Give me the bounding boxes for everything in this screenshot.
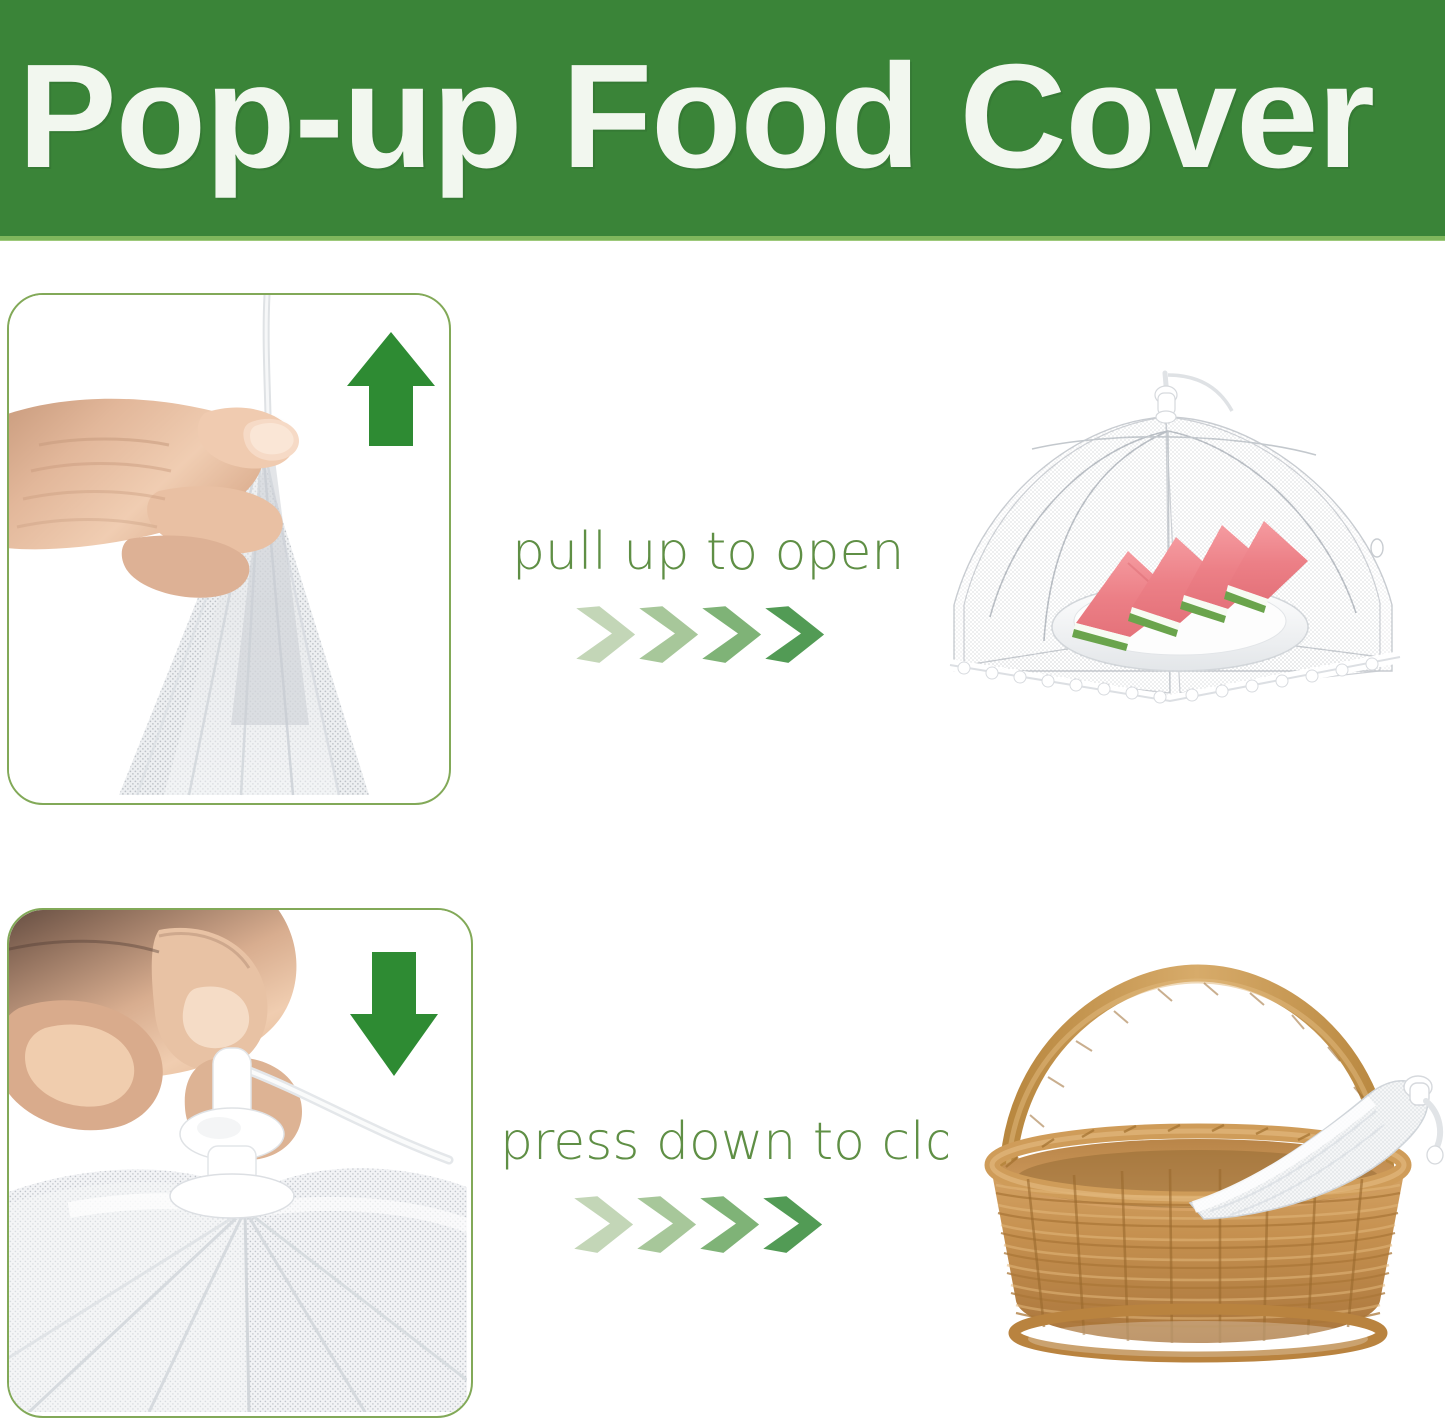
open-food-cover-photo	[880, 355, 1428, 725]
caption-pull-up-to-open: pull up to open	[512, 525, 892, 580]
banner-underline	[0, 236, 1445, 241]
arrow-up-icon	[345, 330, 437, 448]
chevrons-close-icon	[568, 1192, 960, 1254]
page-title: Pop-up Food Cover	[0, 43, 1374, 191]
chevrons-open-icon	[570, 602, 892, 664]
caption-press-down-to-close: press down to close	[500, 1115, 960, 1170]
step-close-caption-block: press down to close	[500, 1115, 960, 1254]
header-banner: Pop-up Food Cover	[0, 0, 1445, 240]
wicker-basket-photo	[948, 935, 1445, 1365]
arrow-down-icon	[348, 950, 440, 1078]
step-open-caption-block: pull up to open	[512, 525, 892, 664]
infographic-canvas: Pop-up Food Cover	[0, 0, 1445, 1421]
